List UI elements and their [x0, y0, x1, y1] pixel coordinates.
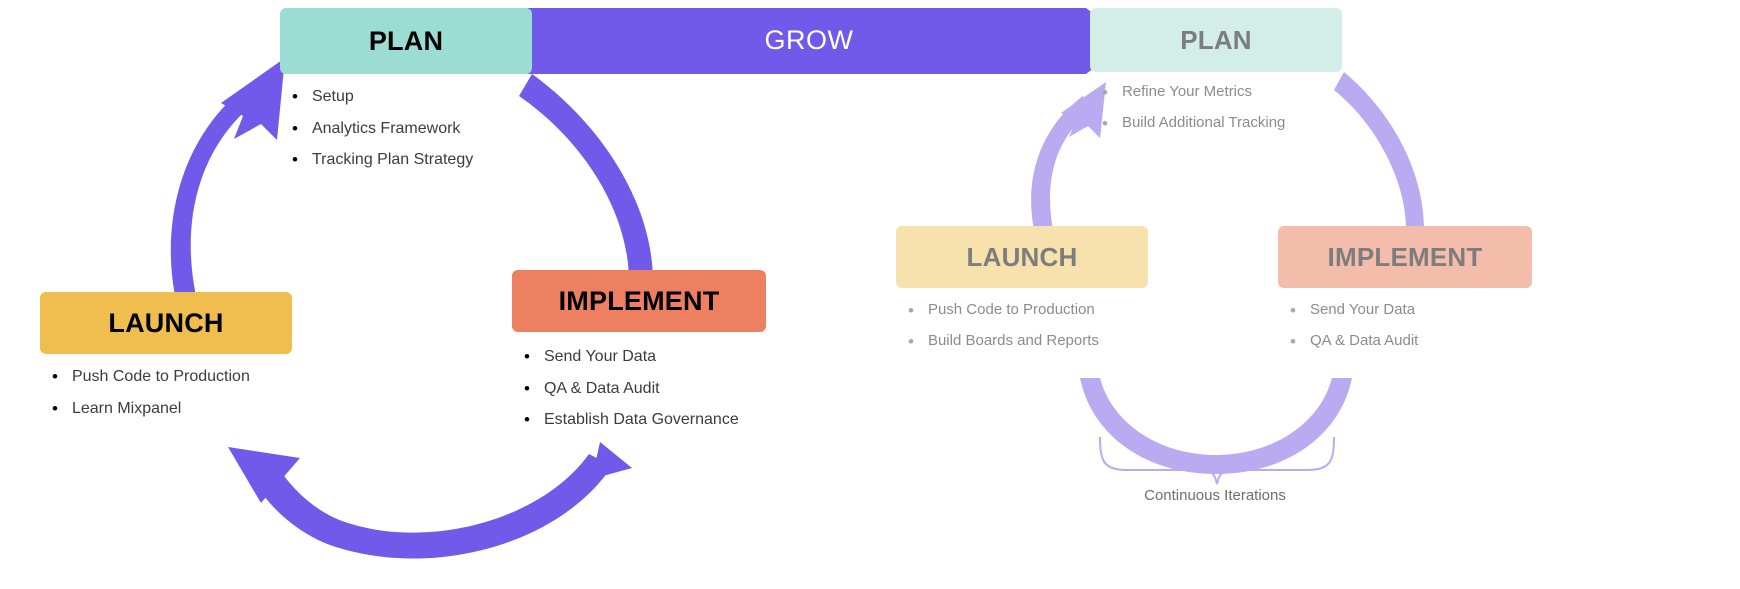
list-item: • Tracking Plan Strategy	[292, 151, 532, 169]
list-item: • Build Boards and Reports	[908, 333, 1148, 350]
bullet-icon: •	[524, 348, 530, 365]
arrow-implement-to-launch-faded	[1080, 378, 1352, 474]
list-item: • QA & Data Audit	[1290, 333, 1532, 350]
bullet-icon: •	[524, 411, 530, 428]
list-item-label: Build Additional Tracking	[1122, 115, 1285, 132]
stage-launch-faded-title: LAUNCH	[896, 226, 1148, 288]
list-item: • Refine Your Metrics	[1102, 84, 1342, 101]
bullet-icon: •	[524, 380, 530, 397]
list-item: • Analytics Framework	[292, 120, 532, 138]
bullet-icon: •	[1290, 302, 1296, 319]
list-item-label: Send Your Data	[544, 348, 656, 366]
list-item: • Setup	[292, 88, 532, 106]
arrow-launch-to-plan-active	[171, 58, 285, 296]
arrow-plan-to-implement-active	[519, 74, 653, 280]
stage-implement-active-items: • Send Your Data • QA & Data Audit • Est…	[524, 348, 766, 429]
stage-plan-active[interactable]: PLAN • Setup • Analytics Framework • Tra…	[280, 8, 532, 183]
bullet-icon: •	[1102, 84, 1108, 101]
list-item-label: Send Your Data	[1310, 302, 1415, 319]
list-item: • Push Code to Production	[908, 302, 1148, 319]
bullet-icon: •	[1102, 115, 1108, 132]
bullet-icon: •	[1290, 333, 1296, 350]
list-item-label: QA & Data Audit	[544, 380, 660, 398]
stage-launch-faded-items: • Push Code to Production • Build Boards…	[908, 302, 1148, 350]
stage-plan-faded-title: PLAN	[1090, 8, 1342, 72]
arrow-plan-to-implement-faded	[1334, 72, 1424, 230]
stage-launch-active-items: • Push Code to Production • Learn Mixpan…	[52, 368, 292, 417]
list-item-label: Push Code to Production	[72, 368, 250, 386]
list-item: • Push Code to Production	[52, 368, 292, 386]
bullet-icon: •	[292, 88, 298, 105]
continuous-iterations-label: Continuous Iterations	[1095, 487, 1335, 504]
list-item-label: Push Code to Production	[928, 302, 1095, 319]
list-item: • QA & Data Audit	[524, 380, 766, 398]
list-item-label: Build Boards and Reports	[928, 333, 1099, 350]
bullet-icon: •	[292, 120, 298, 137]
bullet-icon: •	[52, 400, 58, 417]
diagram-canvas: GROW PLAN • Setup • Analytics Framework …	[0, 0, 1740, 589]
stage-plan-faded[interactable]: PLAN • Refine Your Metrics • Build Addit…	[1090, 8, 1342, 146]
stage-launch-faded[interactable]: LAUNCH • Push Code to Production • Build…	[896, 226, 1148, 364]
stage-implement-faded-items: • Send Your Data • QA & Data Audit	[1290, 302, 1532, 350]
list-item-label: Refine Your Metrics	[1122, 84, 1252, 101]
bullet-icon: •	[292, 151, 298, 168]
list-item: • Build Additional Tracking	[1102, 115, 1342, 132]
bullet-icon: •	[908, 302, 914, 319]
stage-implement-active[interactable]: IMPLEMENT • Send Your Data • QA & Data A…	[512, 270, 766, 443]
stage-launch-active-title: LAUNCH	[40, 292, 292, 354]
stage-implement-faded-title: IMPLEMENT	[1278, 226, 1532, 288]
stage-plan-active-title: PLAN	[280, 8, 532, 74]
list-item: • Send Your Data	[1290, 302, 1532, 319]
bullet-icon: •	[908, 333, 914, 350]
list-item-label: Tracking Plan Strategy	[312, 151, 473, 169]
stage-implement-faded[interactable]: IMPLEMENT • Send Your Data • QA & Data A…	[1278, 226, 1532, 364]
stage-implement-active-title: IMPLEMENT	[512, 270, 766, 332]
stage-launch-active[interactable]: LAUNCH • Push Code to Production • Learn…	[40, 292, 292, 431]
bullet-icon: •	[52, 368, 58, 385]
list-item-label: Setup	[312, 88, 354, 106]
list-item: • Establish Data Governance	[524, 411, 766, 429]
list-item: • Learn Mixpanel	[52, 400, 292, 418]
continuous-iterations-brace	[1100, 437, 1334, 484]
list-item: • Send Your Data	[524, 348, 766, 366]
stage-plan-active-items: • Setup • Analytics Framework • Tracking…	[292, 88, 532, 169]
list-item-label: Learn Mixpanel	[72, 400, 181, 418]
list-item-label: QA & Data Audit	[1310, 333, 1418, 350]
list-item-label: Establish Data Governance	[544, 411, 739, 429]
arrow-implement-to-launch-active	[228, 442, 632, 559]
list-item-label: Analytics Framework	[312, 120, 460, 138]
grow-banner-label: GROW	[530, 8, 1128, 72]
stage-plan-faded-items: • Refine Your Metrics • Build Additional…	[1102, 84, 1342, 132]
